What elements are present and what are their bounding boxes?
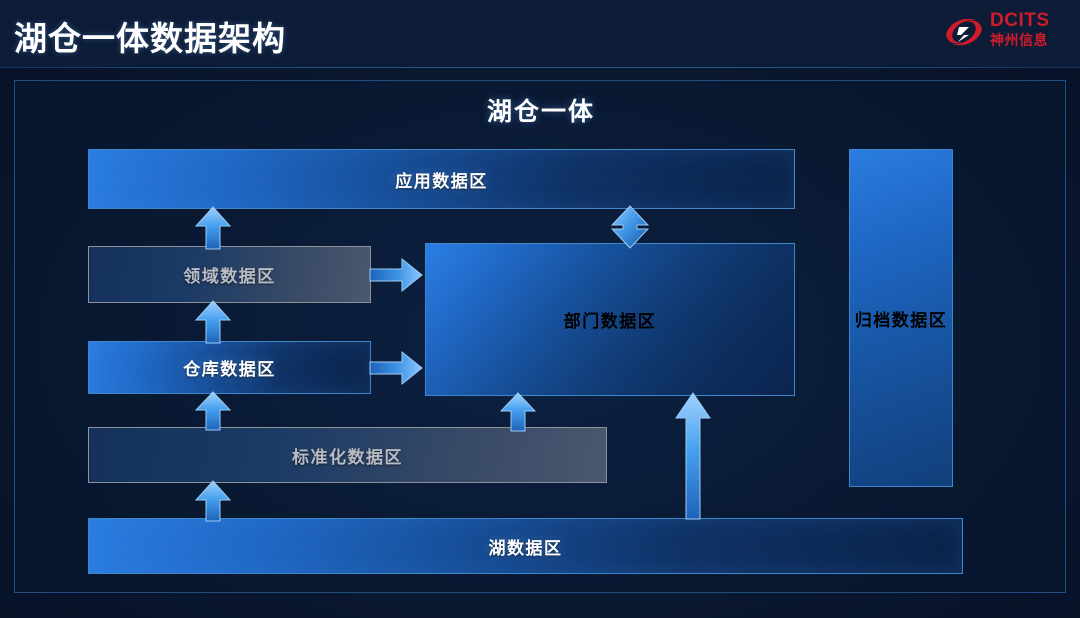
brand-name-en: DCITS [990,11,1068,31]
diagram-title: 湖仓一体 [15,92,1067,128]
zone-department-data[interactable]: 部门数据区 [425,243,795,396]
zone-warehouse-data[interactable]: 仓库数据区 [88,341,371,394]
header-divider [0,67,1080,68]
arrow-up-icon [195,206,231,250]
slide-root: 湖仓一体数据架构 DCITS 神州信息 湖仓一体 应用数据区 领域数据区 仓库 [0,0,1080,618]
arrow-right-icon [369,350,423,386]
page-title: 湖仓一体数据架构 [14,12,286,60]
zone-standardization-data-label: 标准化数据区 [292,443,403,468]
arrow-up-icon [195,391,231,431]
swirl-logo-icon [942,14,986,50]
slide-header: 湖仓一体数据架构 DCITS 神州信息 [0,0,1080,68]
arrow-up-down-icon [611,205,649,249]
zone-application-data[interactable]: 应用数据区 [88,149,795,209]
zone-domain-data-label: 领域数据区 [183,262,276,287]
brand-logo-text: DCITS 神州信息 [990,11,1068,49]
zone-lake-data[interactable]: 湖数据区 [88,518,963,574]
zone-lake-data-label: 湖数据区 [489,534,563,559]
zone-standardization-data[interactable]: 标准化数据区 [88,427,607,483]
zone-department-data-label: 部门数据区 [564,307,657,332]
brand-logo: DCITS 神州信息 [942,8,1068,58]
zone-domain-data[interactable]: 领域数据区 [88,246,371,303]
arrow-up-icon [195,300,231,344]
zone-archive-data-label: 归档数据区 [855,306,948,331]
zone-archive-data[interactable]: 归档数据区 [849,149,953,487]
arrow-up-long-icon [675,392,711,520]
arrow-up-icon [500,392,536,432]
zone-warehouse-data-label: 仓库数据区 [183,355,276,380]
brand-name-cn: 神州信息 [990,32,1068,49]
arrow-right-icon [369,257,423,293]
arrow-up-icon [195,480,231,522]
zone-application-data-label: 应用数据区 [395,167,488,192]
